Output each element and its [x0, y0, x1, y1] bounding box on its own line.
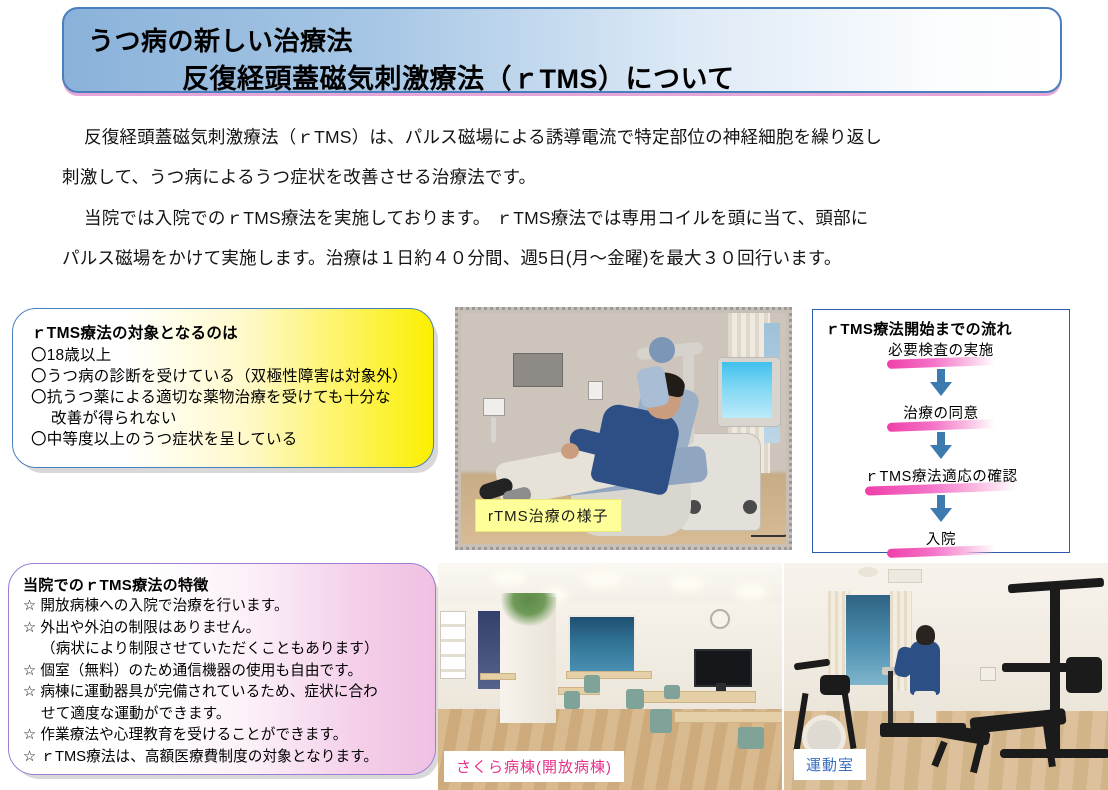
- flow-step-4: 入院: [813, 528, 1069, 549]
- ceiling-light: [674, 579, 700, 588]
- chair: [584, 675, 600, 693]
- patient-hand: [561, 443, 579, 459]
- power-tower-base: [1000, 749, 1108, 758]
- notice-board: [440, 611, 466, 679]
- tms-machine-joint: [649, 337, 675, 363]
- television: [694, 649, 752, 687]
- wall-switch: [483, 398, 505, 416]
- rtms-photo-scene: rTMS治療の様子: [461, 313, 786, 544]
- eligibility-heading: ｒTMS療法の対象となるのは: [31, 321, 417, 343]
- tv-stand: [716, 683, 726, 691]
- features-item: （病状により制限させていただくこともあります）: [23, 639, 423, 661]
- chair: [650, 709, 672, 733]
- hospital-features-box: 当院でのｒTMS療法の特徴 ☆ 開放病棟への入院で治療を行います。 ☆ 外出や外…: [8, 563, 436, 775]
- flow-step-3: ｒTMS療法適応の確認: [813, 465, 1069, 486]
- page-title-line-1: うつ病の新しい治療法: [88, 21, 353, 58]
- person-torso: [910, 641, 940, 695]
- flow-arrow-down-icon: [813, 495, 1069, 523]
- table: [480, 673, 516, 680]
- features-heading: 当院でのｒTMS療法の特徴: [23, 574, 423, 595]
- wall-outlet: [980, 667, 996, 681]
- flow-step-2: 治療の同意: [813, 402, 1069, 423]
- power-tower-back-pad: [1066, 657, 1102, 693]
- table: [566, 671, 652, 679]
- eligibility-item: 改善が得られない: [31, 408, 417, 429]
- ceiling-speaker: [858, 567, 878, 577]
- wall-panel: [513, 353, 563, 387]
- tms-monitor-screen: [722, 362, 772, 418]
- chair: [738, 727, 764, 749]
- features-item: ☆ 外出や外泊の制限はありません。: [23, 618, 423, 640]
- flow-arrow-down-icon: [813, 432, 1069, 460]
- chair: [626, 689, 644, 709]
- tree-view-window: [568, 615, 636, 675]
- features-item: ☆ 開放病棟への入院で治療を行います。: [23, 596, 423, 618]
- treatment-flow-box: ｒTMS療法開始までの流れ 必要検査の実施 治療の同意 ｒTMS療法適応の確認 …: [812, 309, 1070, 553]
- intro-paragraph-line-4: パルス磁場をかけて実施します。治療は１日約４０分間、週5日(月～金曜)を最大３０…: [62, 238, 842, 278]
- features-item: せて適度な運動ができます。: [23, 704, 423, 726]
- hanging-plant: [500, 593, 558, 627]
- eligibility-criteria-box: ｒTMS療法の対象となるのは 〇18歳以上 〇うつ病の診断を受けている（双極性障…: [12, 308, 434, 468]
- features-item: ☆ ｒTMS療法は、高額医療費制度の対象となります。: [23, 747, 423, 769]
- rtms-photo-caption: rTMS治療の様子: [475, 499, 622, 532]
- flow-arrow-down-icon: [813, 369, 1069, 397]
- power-tower-post: [1050, 587, 1060, 757]
- eligibility-item: 〇中等度以上のうつ症状を呈している: [31, 429, 417, 450]
- ward-photo-caption: さくら病棟(開放病棟): [444, 751, 624, 782]
- intro-paragraph-line-3: 当院では入院でのｒTMS療法を実施しております。 ｒTMS療法では専用コイルを頭…: [84, 198, 868, 238]
- power-cable: [751, 509, 786, 537]
- chair: [564, 691, 580, 709]
- features-item: ☆ 作業療法や心理教育を受けることができます。: [23, 725, 423, 747]
- eligibility-item: 〇抗うつ薬による適切な薬物治療を受けても十分な: [31, 387, 417, 408]
- ceiling-light: [496, 573, 522, 582]
- features-item: ☆ 病棟に運動器具が完備されているため、症状に合わ: [23, 682, 423, 704]
- treadmill-rail: [888, 671, 893, 727]
- flow-step-1: 必要検査の実施: [813, 339, 1069, 360]
- page-title-banner: うつ病の新しい治療法 反復経頭蓋磁気刺激療法（ｒTMS）について: [62, 7, 1062, 93]
- ceiling-light: [738, 587, 764, 596]
- table: [674, 711, 782, 723]
- sakura-ward-photo: さくら病棟(開放病棟): [438, 563, 782, 790]
- wall-clock: [710, 609, 730, 629]
- features-item: ☆ 個室（無料）のため通信機器の使用も自由です。: [23, 661, 423, 683]
- ceiling-light: [586, 575, 620, 584]
- exercise-room-photo: 運動室: [784, 563, 1108, 790]
- ceiling-vent: [888, 569, 922, 583]
- chair: [664, 685, 680, 699]
- flow-heading: ｒTMS療法開始までの流れ: [813, 318, 1069, 339]
- eligibility-item: 〇18歳以上: [31, 345, 417, 366]
- eligibility-item: 〇うつ病の診断を受けている（双極性障害は対象外）: [31, 366, 417, 387]
- table: [634, 691, 756, 703]
- ceiling: [438, 563, 782, 605]
- power-tower-dip-bar: [1002, 663, 1068, 672]
- highlight-marker: [887, 545, 995, 558]
- intro-paragraph-line-1: 反復経頭蓋磁気刺激療法（ｒTMS）は、パルス磁場による誘導電流で特定部位の神経細…: [84, 117, 882, 157]
- wall-switch: [588, 381, 603, 400]
- wall-hook: [491, 417, 496, 443]
- page-title-line-2: 反復経頭蓋磁気刺激療法（ｒTMS）について: [182, 57, 735, 96]
- person-head: [916, 625, 935, 645]
- gym-photo-caption: 運動室: [794, 749, 866, 780]
- rtms-treatment-photo: rTMS治療の様子: [455, 307, 792, 550]
- intro-paragraph-line-2: 刺激して、うつ病によるうつ症状を改善させる治療法です。: [62, 157, 536, 197]
